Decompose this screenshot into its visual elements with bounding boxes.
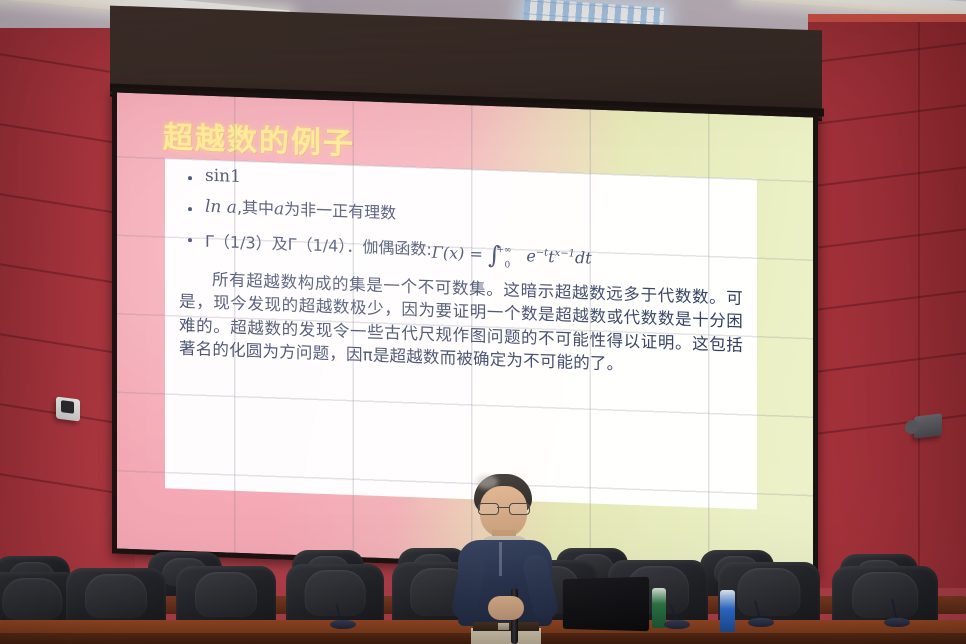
lecture-hall-scene: 超越数的例子 sin1 ln a,其中a为非一正有理数 Γ（1/3）及Γ（1/4… [0, 0, 966, 644]
bullet-item-2: ln a,其中a为非一正有理数 [179, 198, 743, 236]
bullet-item-3: Γ（1/3）及Γ（1/4）．伽偶函数: Γ(x) = ∫+∞0 e−ttx−1d… [179, 228, 743, 273]
bullet-list: sin1 ln a,其中a为非一正有理数 Γ（1/3）及Γ（1/4）．伽偶函数:… [179, 167, 743, 274]
table-microphone[interactable] [748, 618, 774, 627]
wall-right [808, 22, 966, 588]
laptop[interactable] [563, 577, 649, 631]
table-microphone[interactable] [330, 620, 356, 629]
formula-integrand: e [526, 246, 535, 265]
speaker-icon-right [914, 413, 942, 438]
water-bottle[interactable] [720, 590, 735, 632]
bullet-2-prefix: ln [205, 197, 227, 218]
table-microphone[interactable] [884, 618, 910, 627]
slide-paragraph: 所有超越数构成的集是一个不可数集。这暗示超越数远多于代数数。可是，现今发现的超越… [179, 267, 743, 381]
formula-equals: = [469, 244, 482, 263]
integral-lower-limit: 0 [505, 260, 511, 270]
belt-buckle [498, 623, 509, 630]
formula-differential: dt [575, 248, 592, 268]
table-microphone[interactable] [664, 620, 690, 629]
hands [488, 596, 524, 620]
gamma-formula: Γ(x) = ∫+∞0 e−ttx−1dt [432, 237, 592, 268]
bullet-2-mid: ,其中 [237, 198, 274, 218]
speaker-icon-left [56, 397, 80, 422]
formula-exp-2: x−1 [555, 248, 575, 260]
formula-lhs: Γ(x) [432, 242, 465, 262]
formula-exp-1: −t [536, 247, 548, 258]
bullet-text-3: Γ（1/3）及Γ（1/4）．伽偶函数: [205, 231, 432, 258]
integral-upper-limit: +∞ [496, 245, 511, 256]
bullet-2-italic-a2: a [274, 199, 284, 219]
bullet-2-italic-a: a [227, 197, 237, 217]
bullet-2-suffix: 为非一正有理数 [284, 199, 396, 222]
slide-content-box: sin1 ln a,其中a为非一正有理数 Γ（1/3）及Γ（1/4）．伽偶函数:… [165, 158, 757, 509]
presenter [440, 470, 568, 644]
slide-title: 超越数的例子 [163, 112, 355, 163]
sweater-placket [499, 542, 502, 576]
glasses-icon [478, 503, 530, 513]
bullet-text-1: sin1 [205, 166, 241, 187]
